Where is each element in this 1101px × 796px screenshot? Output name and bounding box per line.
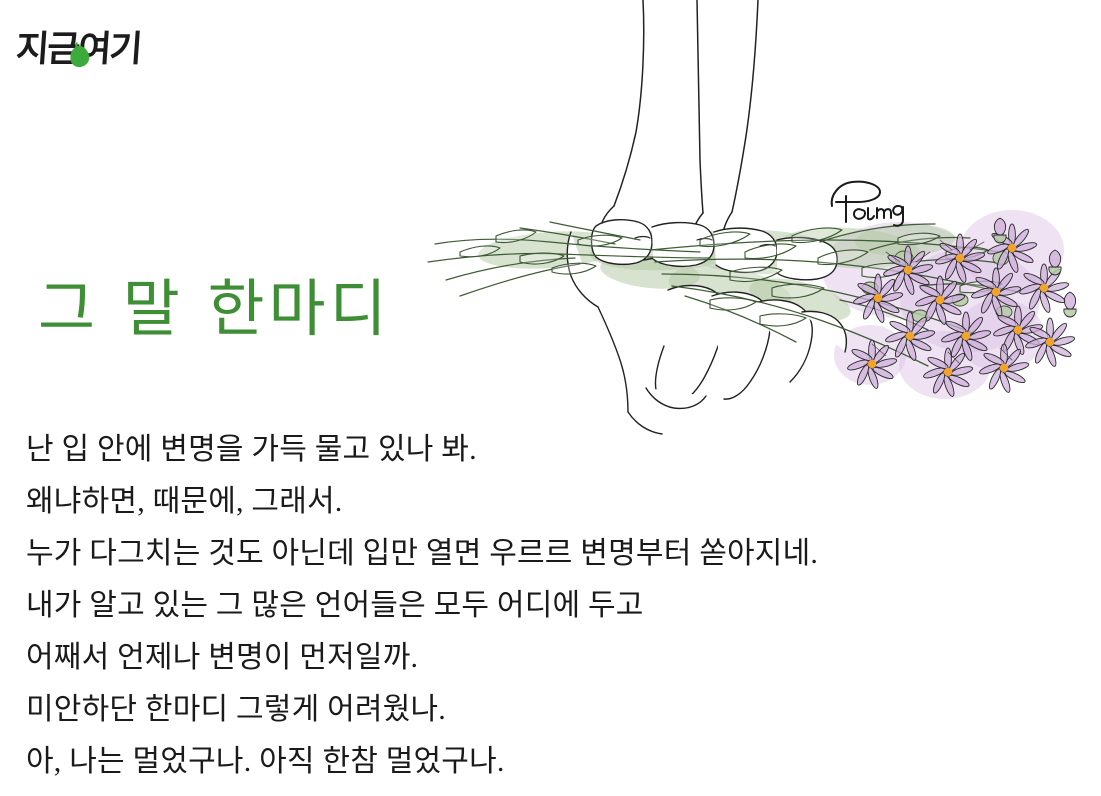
poem-line: 미안하단 한마디 그렇게 어려웠나. [26,684,966,736]
poem-line: 내가 알고 있는 그 많은 언어들은 모두 어디에 두고 [26,580,966,632]
artist-signature [822,176,932,228]
poem-line: 난 입 안에 변명을 가득 물고 있나 봐. [26,424,966,476]
poem-line: 왜냐하면, 때문에, 그래서. [26,476,966,528]
hand-with-flowers-illustration [400,0,1101,440]
poem-card-page: 지금여기 [0,0,1101,796]
poem-line: 어째서 언제나 변명이 먼저일까. [26,632,966,684]
page-title: 그 말 한마디 [38,258,391,348]
brand-logo[interactable]: 지금여기 [16,24,146,86]
poem-line: 누가 다그치는 것도 아닌데 입만 열면 우르르 변명부터 쏟아지네. [26,528,966,580]
poem-body: 난 입 안에 변명을 가득 물고 있나 봐. 왜냐하면, 때문에, 그래서. 누… [26,424,966,788]
poem-line: 아, 나는 멀었구나. 아직 한참 멀었구나. [26,736,966,788]
